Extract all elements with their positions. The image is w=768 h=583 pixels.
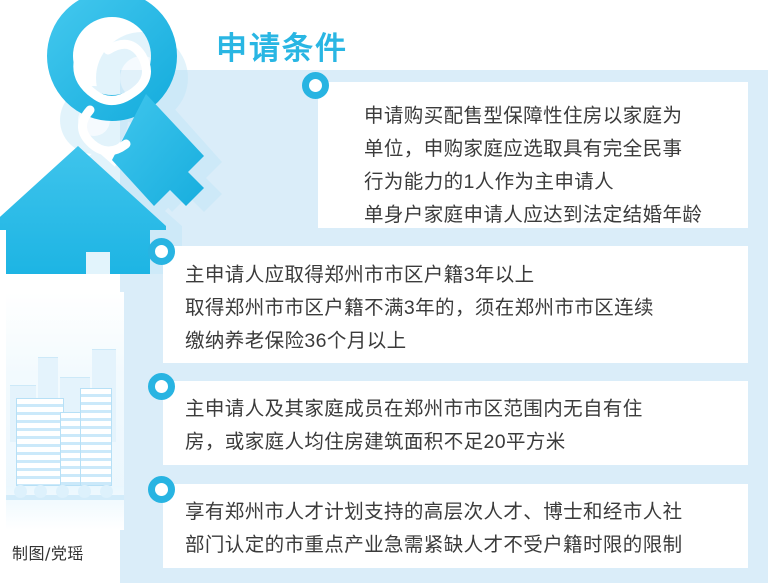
ring-bullet-icon — [148, 238, 175, 265]
infographic-canvas: 申请条件 申请购买配售型保障性住房以家庭为 单位，申购家庭应选取具有完全民事 行… — [0, 0, 768, 583]
condition-line: 享有郑州市人才计划支持的高层次人才、博士和经市人社 — [185, 496, 683, 529]
ring-bullet-icon — [302, 72, 329, 99]
condition-line: 房，或家庭人均住房建筑面积不足20平方米 — [185, 426, 643, 459]
cityscape-tower — [80, 388, 112, 486]
cityscape-tree — [14, 485, 27, 498]
cityscape-tree — [78, 485, 91, 498]
condition-panel: 申请购买配售型保障性住房以家庭为 单位，申购家庭应选取具有完全民事 行为能力的1… — [318, 82, 748, 228]
cityscape-photo — [6, 292, 124, 530]
cityscape-tree — [34, 485, 47, 498]
cityscape-tree — [56, 485, 69, 498]
condition-text: 主申请人及其家庭成员在郑州市市区范围内无自有住 房，或家庭人均住房建筑面积不足2… — [185, 393, 643, 459]
ring-bullet-icon — [148, 476, 175, 503]
page-title: 申请条件 — [216, 23, 348, 68]
condition-line: 部门认定的市重点产业急需紧缺人才不受户籍时限的限制 — [185, 529, 683, 562]
condition-line: 申请购买配售型保障性住房以家庭为 — [364, 100, 702, 133]
condition-line: 单位，申购家庭应选取具有完全民事 — [364, 133, 702, 166]
condition-text: 申请购买配售型保障性住房以家庭为 单位，申购家庭应选取具有完全民事 行为能力的1… — [364, 100, 702, 232]
condition-line: 主申请人应取得郑州市市区户籍3年以上 — [185, 259, 654, 292]
credit-label: 制图/党瑶 — [12, 540, 84, 564]
condition-text: 享有郑州市人才计划支持的高层次人才、博士和经市人社 部门认定的市重点产业急需紧缺… — [185, 496, 683, 562]
condition-line: 单身户家庭申请人应达到法定结婚年龄 — [364, 199, 702, 232]
key-house-icon — [0, 0, 250, 274]
condition-panel: 主申请人应取得郑州市市区户籍3年以上 取得郑州市市区户籍不满3年的，须在郑州市市… — [163, 246, 748, 363]
condition-line: 缴纳养老保险36个月以上 — [185, 325, 654, 358]
condition-line: 行为能力的1人作为主申请人 — [364, 166, 702, 199]
condition-text: 主申请人应取得郑州市市区户籍3年以上 取得郑州市市区户籍不满3年的，须在郑州市市… — [185, 259, 654, 358]
cityscape-tower — [16, 398, 64, 486]
condition-panel: 主申请人及其家庭成员在郑州市市区范围内无自有住 房，或家庭人均住房建筑面积不足2… — [163, 381, 748, 465]
condition-line: 主申请人及其家庭成员在郑州市市区范围内无自有住 — [185, 393, 643, 426]
condition-panel: 享有郑州市人才计划支持的高层次人才、博士和经市人社 部门认定的市重点产业急需紧缺… — [163, 484, 748, 568]
ring-bullet-icon — [148, 373, 175, 400]
cityscape-tree — [100, 485, 113, 498]
condition-line: 取得郑州市市区户籍不满3年的，须在郑州市市区连续 — [185, 292, 654, 325]
